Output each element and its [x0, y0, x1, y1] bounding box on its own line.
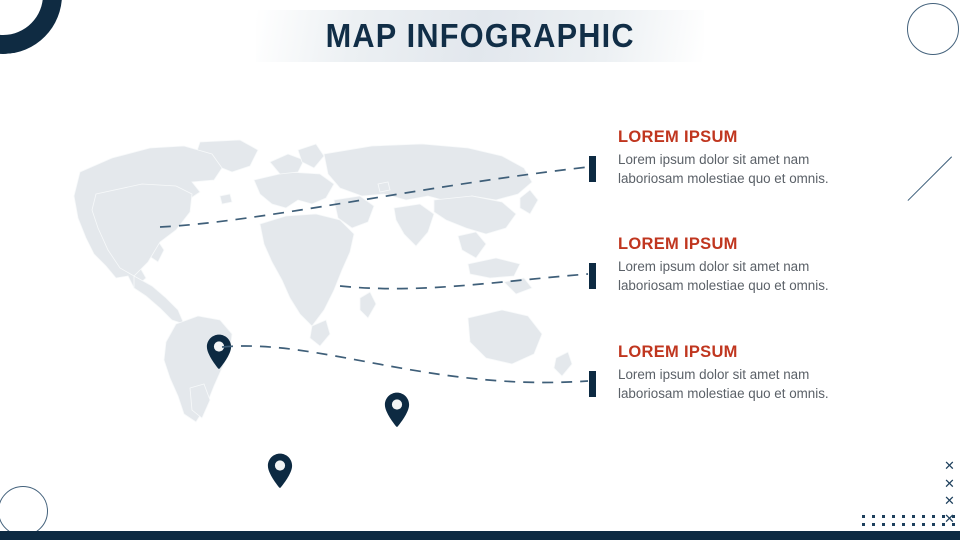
connector-line-3 [222, 346, 588, 383]
info-heading: LOREM IPSUM [618, 235, 889, 253]
connector-line-1 [160, 167, 588, 227]
info-marker-bar [589, 156, 596, 182]
info-block[interactable]: LOREM IPSUM Lorem ipsum dolor sit amet n… [589, 128, 889, 188]
info-text-line-2: laboriosam molestiae quo et omnis. [618, 276, 889, 295]
info-heading: LOREM IPSUM [618, 343, 889, 361]
info-text-line-2: laboriosam molestiae quo et omnis. [618, 169, 889, 188]
info-block[interactable]: LOREM IPSUM Lorem ipsum dolor sit amet n… [589, 235, 889, 295]
info-block[interactable]: LOREM IPSUM Lorem ipsum dolor sit amet n… [589, 343, 889, 403]
connector-line-2 [340, 274, 588, 289]
info-text-line-1: Lorem ipsum dolor sit amet nam [618, 365, 889, 384]
info-heading: LOREM IPSUM [618, 128, 889, 146]
info-text-line-1: Lorem ipsum dolor sit amet nam [618, 150, 889, 169]
info-marker-bar [589, 371, 596, 397]
info-text-line-1: Lorem ipsum dolor sit amet nam [618, 257, 889, 276]
info-marker-bar [589, 263, 596, 289]
info-text-line-2: laboriosam molestiae quo et omnis. [618, 384, 889, 403]
